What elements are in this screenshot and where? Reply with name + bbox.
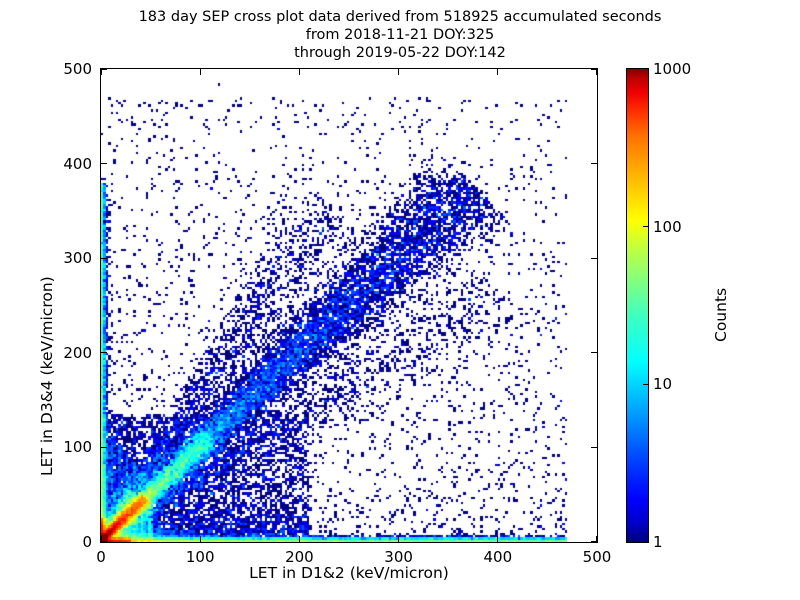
y-tick-mark-right	[591, 258, 597, 259]
y-tick-mark	[101, 541, 107, 542]
y-tick-mark	[101, 163, 107, 164]
y-tick-mark	[101, 258, 107, 259]
colorbar-tick-mark	[643, 226, 648, 227]
x-tick-mark-top	[200, 69, 201, 75]
x-tick-mark	[200, 536, 201, 542]
colorbar-tick-label: 10	[653, 375, 672, 393]
colorbar-tick-label: 1	[653, 533, 663, 551]
x-tick-mark	[100, 536, 101, 542]
y-tick-mark-right	[591, 163, 597, 164]
x-tick-mark	[299, 536, 300, 542]
x-axis-label: LET in D1&2 (keV/micron)	[100, 564, 598, 582]
y-tick-label: 400	[34, 155, 92, 173]
x-tick-mark	[497, 536, 498, 542]
scatter-heatmap-canvas	[101, 69, 597, 542]
x-tick-mark-top	[299, 69, 300, 75]
y-tick-mark	[101, 447, 107, 448]
colorbar-tick-label: 100	[653, 218, 682, 236]
y-tick-label: 500	[34, 60, 92, 78]
x-tick-mark-top	[497, 69, 498, 75]
y-tick-mark	[101, 352, 107, 353]
y-tick-label: 300	[34, 249, 92, 267]
colorbar	[626, 68, 649, 543]
plot-title: 183 day SEP cross plot data derived from…	[0, 8, 800, 62]
x-tick-mark-top	[100, 69, 101, 75]
colorbar-label: Counts	[712, 288, 730, 342]
figure-root: 183 day SEP cross plot data derived from…	[0, 0, 800, 600]
x-tick-mark-top	[398, 69, 399, 75]
title-line-2: from 2018-11-21 DOY:325	[0, 26, 800, 44]
x-tick-mark	[596, 536, 597, 542]
colorbar-tick-mark	[643, 384, 648, 385]
x-tick-mark-top	[596, 69, 597, 75]
x-tick-mark	[398, 536, 399, 542]
y-tick-mark-right	[591, 352, 597, 353]
colorbar-tick-label: 1000	[653, 60, 691, 78]
y-tick-mark-right	[591, 447, 597, 448]
y-axis-label: LET in D3&4 (keV/micron)	[38, 276, 56, 476]
y-tick-label: 0	[34, 533, 92, 551]
plot-axes	[100, 68, 598, 543]
y-tick-mark	[101, 68, 107, 69]
title-line-1: 183 day SEP cross plot data derived from…	[0, 8, 800, 26]
